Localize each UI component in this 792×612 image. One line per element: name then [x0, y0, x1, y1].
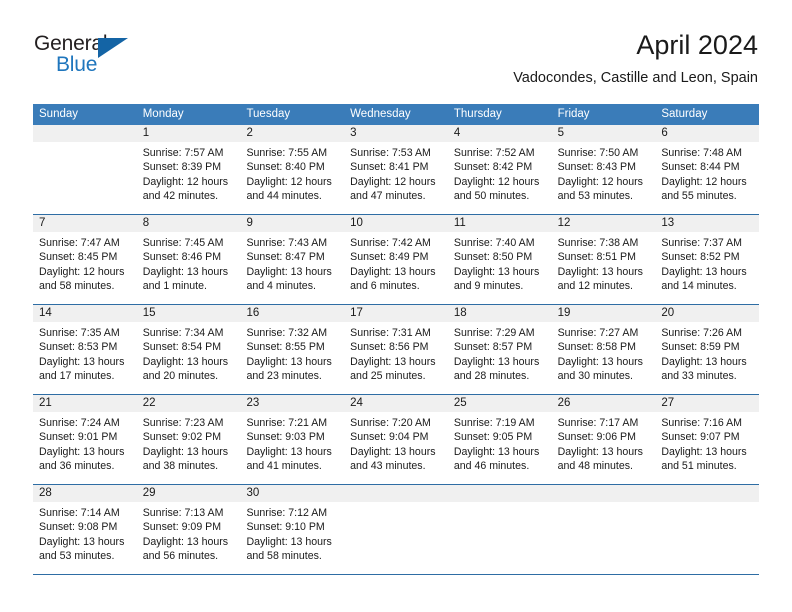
day-details: Sunrise: 7:35 AMSunset: 8:53 PMDaylight:… — [33, 322, 137, 384]
day-detail-line: Daylight: 13 hours — [454, 265, 546, 279]
day-detail-line: Sunrise: 7:23 AM — [143, 416, 235, 430]
day-detail-line: and 51 minutes. — [661, 459, 753, 473]
day-detail-line: and 17 minutes. — [39, 369, 131, 383]
day-detail-line: and 41 minutes. — [246, 459, 338, 473]
page-subtitle: Vadocondes, Castille and Leon, Spain — [513, 68, 758, 88]
day-detail-line: Sunset: 8:46 PM — [143, 250, 235, 264]
day-detail-line: and 28 minutes. — [454, 369, 546, 383]
day-detail-line: Sunset: 8:52 PM — [661, 250, 753, 264]
day-detail-line: Sunrise: 7:12 AM — [246, 506, 338, 520]
day-detail-line: Sunrise: 7:24 AM — [39, 416, 131, 430]
day-details: Sunrise: 7:21 AMSunset: 9:03 PMDaylight:… — [240, 412, 344, 474]
day-number: 29 — [137, 485, 241, 502]
day-cell-3[interactable]: 3Sunrise: 7:53 AMSunset: 8:41 PMDaylight… — [344, 125, 448, 214]
logo-triangle-icon — [98, 38, 128, 58]
day-detail-line: Sunset: 8:51 PM — [558, 250, 650, 264]
day-details: Sunrise: 7:32 AMSunset: 8:55 PMDaylight:… — [240, 322, 344, 384]
day-details: Sunrise: 7:27 AMSunset: 8:58 PMDaylight:… — [552, 322, 656, 384]
day-details: Sunrise: 7:55 AMSunset: 8:40 PMDaylight:… — [240, 142, 344, 204]
day-detail-line: Sunset: 8:53 PM — [39, 340, 131, 354]
day-details: Sunrise: 7:52 AMSunset: 8:42 PMDaylight:… — [448, 142, 552, 204]
day-detail-line: Daylight: 13 hours — [454, 445, 546, 459]
day-number: 24 — [344, 395, 448, 412]
day-detail-line: Sunset: 9:10 PM — [246, 520, 338, 534]
day-detail-line: Sunrise: 7:32 AM — [246, 326, 338, 340]
day-detail-line: and 46 minutes. — [454, 459, 546, 473]
day-number — [448, 485, 552, 502]
day-details: Sunrise: 7:53 AMSunset: 8:41 PMDaylight:… — [344, 142, 448, 204]
day-detail-line: and 33 minutes. — [661, 369, 753, 383]
day-details: Sunrise: 7:43 AMSunset: 8:47 PMDaylight:… — [240, 232, 344, 294]
day-detail-line: Sunset: 8:57 PM — [454, 340, 546, 354]
day-number: 8 — [137, 215, 241, 232]
page-header: General Blue April 2024 Vadocondes, Cast… — [34, 28, 758, 98]
day-cell-5[interactable]: 5Sunrise: 7:50 AMSunset: 8:43 PMDaylight… — [552, 125, 656, 214]
day-detail-line: and 43 minutes. — [350, 459, 442, 473]
calendar-page: General Blue April 2024 Vadocondes, Cast… — [0, 0, 792, 612]
day-number: 23 — [240, 395, 344, 412]
day-details: Sunrise: 7:31 AMSunset: 8:56 PMDaylight:… — [344, 322, 448, 384]
day-cell-19[interactable]: 19Sunrise: 7:27 AMSunset: 8:58 PMDayligh… — [552, 305, 656, 394]
day-cell-22[interactable]: 22Sunrise: 7:23 AMSunset: 9:02 PMDayligh… — [137, 395, 241, 484]
day-details: Sunrise: 7:14 AMSunset: 9:08 PMDaylight:… — [33, 502, 137, 564]
day-number: 28 — [33, 485, 137, 502]
day-detail-line: Sunrise: 7:52 AM — [454, 146, 546, 160]
day-number — [344, 485, 448, 502]
day-number: 3 — [344, 125, 448, 142]
day-detail-line: Sunrise: 7:31 AM — [350, 326, 442, 340]
day-cell-empty — [344, 485, 448, 574]
day-details: Sunrise: 7:17 AMSunset: 9:06 PMDaylight:… — [552, 412, 656, 474]
day-detail-line: and 9 minutes. — [454, 279, 546, 293]
day-cell-10[interactable]: 10Sunrise: 7:42 AMSunset: 8:49 PMDayligh… — [344, 215, 448, 304]
day-detail-line: Daylight: 13 hours — [350, 445, 442, 459]
day-detail-line: and 4 minutes. — [246, 279, 338, 293]
day-details: Sunrise: 7:12 AMSunset: 9:10 PMDaylight:… — [240, 502, 344, 564]
day-detail-line: Sunrise: 7:50 AM — [558, 146, 650, 160]
day-detail-line: Sunrise: 7:29 AM — [454, 326, 546, 340]
day-detail-line: and 14 minutes. — [661, 279, 753, 293]
calendar-week-row: 14Sunrise: 7:35 AMSunset: 8:53 PMDayligh… — [33, 305, 759, 395]
day-cell-empty — [448, 485, 552, 574]
day-cell-17[interactable]: 17Sunrise: 7:31 AMSunset: 8:56 PMDayligh… — [344, 305, 448, 394]
day-number: 5 — [552, 125, 656, 142]
day-cell-30[interactable]: 30Sunrise: 7:12 AMSunset: 9:10 PMDayligh… — [240, 485, 344, 574]
day-detail-line: Sunset: 9:09 PM — [143, 520, 235, 534]
day-detail-line: and 55 minutes. — [661, 189, 753, 203]
day-cell-8[interactable]: 8Sunrise: 7:45 AMSunset: 8:46 PMDaylight… — [137, 215, 241, 304]
day-detail-line: Sunset: 9:03 PM — [246, 430, 338, 444]
day-number: 10 — [344, 215, 448, 232]
day-detail-line: Sunset: 8:40 PM — [246, 160, 338, 174]
calendar-week-row: 7Sunrise: 7:47 AMSunset: 8:45 PMDaylight… — [33, 215, 759, 305]
weekday-header-saturday: Saturday — [655, 104, 759, 125]
day-details: Sunrise: 7:16 AMSunset: 9:07 PMDaylight:… — [655, 412, 759, 474]
day-cell-11[interactable]: 11Sunrise: 7:40 AMSunset: 8:50 PMDayligh… — [448, 215, 552, 304]
day-cell-26[interactable]: 26Sunrise: 7:17 AMSunset: 9:06 PMDayligh… — [552, 395, 656, 484]
day-number: 26 — [552, 395, 656, 412]
day-detail-line: Sunset: 8:44 PM — [661, 160, 753, 174]
day-details: Sunrise: 7:47 AMSunset: 8:45 PMDaylight:… — [33, 232, 137, 294]
day-number: 1 — [137, 125, 241, 142]
day-detail-line: and 50 minutes. — [454, 189, 546, 203]
day-number: 18 — [448, 305, 552, 322]
day-detail-line: Sunrise: 7:48 AM — [661, 146, 753, 160]
day-cell-2[interactable]: 2Sunrise: 7:55 AMSunset: 8:40 PMDaylight… — [240, 125, 344, 214]
day-number: 19 — [552, 305, 656, 322]
day-detail-line: and 1 minute. — [143, 279, 235, 293]
day-detail-line: and 20 minutes. — [143, 369, 235, 383]
day-detail-line: Daylight: 13 hours — [39, 535, 131, 549]
day-detail-line: Sunrise: 7:16 AM — [661, 416, 753, 430]
day-number: 30 — [240, 485, 344, 502]
day-detail-line: and 6 minutes. — [350, 279, 442, 293]
day-detail-line: and 30 minutes. — [558, 369, 650, 383]
day-cell-14[interactable]: 14Sunrise: 7:35 AMSunset: 8:53 PMDayligh… — [33, 305, 137, 394]
day-cell-16[interactable]: 16Sunrise: 7:32 AMSunset: 8:55 PMDayligh… — [240, 305, 344, 394]
day-detail-line: Sunrise: 7:13 AM — [143, 506, 235, 520]
day-cell-15[interactable]: 15Sunrise: 7:34 AMSunset: 8:54 PMDayligh… — [137, 305, 241, 394]
day-cell-13[interactable]: 13Sunrise: 7:37 AMSunset: 8:52 PMDayligh… — [655, 215, 759, 304]
day-number: 12 — [552, 215, 656, 232]
day-detail-line: Daylight: 12 hours — [558, 175, 650, 189]
day-detail-line: Daylight: 13 hours — [454, 355, 546, 369]
day-number: 27 — [655, 395, 759, 412]
day-detail-line: Sunset: 8:56 PM — [350, 340, 442, 354]
day-number: 9 — [240, 215, 344, 232]
day-detail-line: Sunset: 8:54 PM — [143, 340, 235, 354]
day-detail-line: Sunset: 8:41 PM — [350, 160, 442, 174]
day-detail-line: Sunset: 8:50 PM — [454, 250, 546, 264]
day-detail-line: Sunrise: 7:47 AM — [39, 236, 131, 250]
day-details: Sunrise: 7:13 AMSunset: 9:09 PMDaylight:… — [137, 502, 241, 564]
calendar-body: 1Sunrise: 7:57 AMSunset: 8:39 PMDaylight… — [33, 125, 759, 575]
day-detail-line: Sunset: 8:43 PM — [558, 160, 650, 174]
day-detail-line: Sunset: 8:59 PM — [661, 340, 753, 354]
day-detail-line: Daylight: 13 hours — [350, 265, 442, 279]
day-cell-1[interactable]: 1Sunrise: 7:57 AMSunset: 8:39 PMDaylight… — [137, 125, 241, 214]
day-detail-line: Daylight: 13 hours — [143, 265, 235, 279]
day-detail-line: Sunrise: 7:26 AM — [661, 326, 753, 340]
day-number: 22 — [137, 395, 241, 412]
day-detail-line: Sunrise: 7:57 AM — [143, 146, 235, 160]
day-detail-line: Sunset: 9:02 PM — [143, 430, 235, 444]
day-detail-line: Daylight: 13 hours — [143, 535, 235, 549]
day-details: Sunrise: 7:42 AMSunset: 8:49 PMDaylight:… — [344, 232, 448, 294]
day-detail-line: Daylight: 13 hours — [558, 265, 650, 279]
day-detail-line: Daylight: 12 hours — [661, 175, 753, 189]
day-number: 14 — [33, 305, 137, 322]
day-number: 6 — [655, 125, 759, 142]
calendar-week-row: 1Sunrise: 7:57 AMSunset: 8:39 PMDaylight… — [33, 125, 759, 215]
day-cell-24[interactable]: 24Sunrise: 7:20 AMSunset: 9:04 PMDayligh… — [344, 395, 448, 484]
day-cell-27[interactable]: 27Sunrise: 7:16 AMSunset: 9:07 PMDayligh… — [655, 395, 759, 484]
day-detail-line: Sunrise: 7:43 AM — [246, 236, 338, 250]
day-cell-empty — [655, 485, 759, 574]
day-number: 17 — [344, 305, 448, 322]
day-detail-line: Daylight: 13 hours — [558, 355, 650, 369]
day-detail-line: Sunrise: 7:20 AM — [350, 416, 442, 430]
day-detail-line: Sunset: 9:05 PM — [454, 430, 546, 444]
day-detail-line: and 58 minutes. — [246, 549, 338, 563]
day-cell-21[interactable]: 21Sunrise: 7:24 AMSunset: 9:01 PMDayligh… — [33, 395, 137, 484]
day-detail-line: Sunrise: 7:19 AM — [454, 416, 546, 430]
day-detail-line: and 58 minutes. — [39, 279, 131, 293]
day-details: Sunrise: 7:20 AMSunset: 9:04 PMDaylight:… — [344, 412, 448, 474]
day-details: Sunrise: 7:50 AMSunset: 8:43 PMDaylight:… — [552, 142, 656, 204]
day-detail-line: and 44 minutes. — [246, 189, 338, 203]
day-number: 11 — [448, 215, 552, 232]
day-detail-line: Daylight: 13 hours — [246, 445, 338, 459]
day-detail-line: Daylight: 12 hours — [350, 175, 442, 189]
logo-text-blue: Blue — [56, 53, 97, 77]
day-detail-line: Sunset: 8:45 PM — [39, 250, 131, 264]
day-detail-line: and 56 minutes. — [143, 549, 235, 563]
day-detail-line: Sunrise: 7:34 AM — [143, 326, 235, 340]
day-detail-line: and 53 minutes. — [39, 549, 131, 563]
day-details: Sunrise: 7:48 AMSunset: 8:44 PMDaylight:… — [655, 142, 759, 204]
day-detail-line: Sunrise: 7:40 AM — [454, 236, 546, 250]
day-cell-20[interactable]: 20Sunrise: 7:26 AMSunset: 8:59 PMDayligh… — [655, 305, 759, 394]
day-cell-7[interactable]: 7Sunrise: 7:47 AMSunset: 8:45 PMDaylight… — [33, 215, 137, 304]
day-detail-line: Sunset: 9:08 PM — [39, 520, 131, 534]
day-number: 7 — [33, 215, 137, 232]
day-details: Sunrise: 7:45 AMSunset: 8:46 PMDaylight:… — [137, 232, 241, 294]
day-cell-28[interactable]: 28Sunrise: 7:14 AMSunset: 9:08 PMDayligh… — [33, 485, 137, 574]
day-detail-line: and 12 minutes. — [558, 279, 650, 293]
day-detail-line: Daylight: 12 hours — [143, 175, 235, 189]
day-cell-29[interactable]: 29Sunrise: 7:13 AMSunset: 9:09 PMDayligh… — [137, 485, 241, 574]
day-details: Sunrise: 7:19 AMSunset: 9:05 PMDaylight:… — [448, 412, 552, 474]
day-detail-line: Daylight: 13 hours — [143, 355, 235, 369]
day-number: 2 — [240, 125, 344, 142]
day-cell-23[interactable]: 23Sunrise: 7:21 AMSunset: 9:03 PMDayligh… — [240, 395, 344, 484]
day-detail-line: Sunrise: 7:45 AM — [143, 236, 235, 250]
general-blue-logo[interactable]: General Blue — [34, 32, 214, 84]
day-number: 21 — [33, 395, 137, 412]
day-cell-18[interactable]: 18Sunrise: 7:29 AMSunset: 8:57 PMDayligh… — [448, 305, 552, 394]
day-cell-9[interactable]: 9Sunrise: 7:43 AMSunset: 8:47 PMDaylight… — [240, 215, 344, 304]
title-block: April 2024 Vadocondes, Castille and Leon… — [513, 28, 758, 88]
day-number: 25 — [448, 395, 552, 412]
day-cell-12[interactable]: 12Sunrise: 7:38 AMSunset: 8:51 PMDayligh… — [552, 215, 656, 304]
day-number: 15 — [137, 305, 241, 322]
day-details: Sunrise: 7:57 AMSunset: 8:39 PMDaylight:… — [137, 142, 241, 204]
page-title: April 2024 — [513, 28, 758, 62]
day-number: 13 — [655, 215, 759, 232]
weekday-header-thursday: Thursday — [448, 104, 552, 125]
day-detail-line: and 53 minutes. — [558, 189, 650, 203]
day-detail-line: Daylight: 13 hours — [143, 445, 235, 459]
day-detail-line: Sunset: 8:39 PM — [143, 160, 235, 174]
weekday-header-wednesday: Wednesday — [344, 104, 448, 125]
day-details: Sunrise: 7:38 AMSunset: 8:51 PMDaylight:… — [552, 232, 656, 294]
day-detail-line: Sunrise: 7:17 AM — [558, 416, 650, 430]
day-number: 16 — [240, 305, 344, 322]
day-cell-empty — [33, 125, 137, 214]
day-details: Sunrise: 7:26 AMSunset: 8:59 PMDaylight:… — [655, 322, 759, 384]
day-detail-line: Daylight: 13 hours — [661, 445, 753, 459]
day-details: Sunrise: 7:29 AMSunset: 8:57 PMDaylight:… — [448, 322, 552, 384]
day-number: 4 — [448, 125, 552, 142]
day-details: Sunrise: 7:34 AMSunset: 8:54 PMDaylight:… — [137, 322, 241, 384]
day-number: 20 — [655, 305, 759, 322]
day-cell-6[interactable]: 6Sunrise: 7:48 AMSunset: 8:44 PMDaylight… — [655, 125, 759, 214]
day-number — [552, 485, 656, 502]
day-detail-line: Daylight: 13 hours — [246, 535, 338, 549]
weekday-header-row: SundayMondayTuesdayWednesdayThursdayFrid… — [33, 104, 759, 125]
day-detail-line: Daylight: 13 hours — [39, 355, 131, 369]
day-detail-line: and 23 minutes. — [246, 369, 338, 383]
day-detail-line: Sunset: 8:58 PM — [558, 340, 650, 354]
month-calendar: SundayMondayTuesdayWednesdayThursdayFrid… — [33, 104, 759, 575]
day-number — [33, 125, 137, 142]
day-detail-line: Daylight: 12 hours — [246, 175, 338, 189]
weekday-header-monday: Monday — [137, 104, 241, 125]
day-detail-line: and 25 minutes. — [350, 369, 442, 383]
day-detail-line: Daylight: 13 hours — [39, 445, 131, 459]
day-detail-line: Sunrise: 7:55 AM — [246, 146, 338, 160]
day-detail-line: Daylight: 13 hours — [350, 355, 442, 369]
day-detail-line: Daylight: 12 hours — [454, 175, 546, 189]
day-detail-line: Sunrise: 7:38 AM — [558, 236, 650, 250]
day-detail-line: Daylight: 13 hours — [661, 355, 753, 369]
day-detail-line: and 48 minutes. — [558, 459, 650, 473]
weekday-header-tuesday: Tuesday — [240, 104, 344, 125]
day-detail-line: and 38 minutes. — [143, 459, 235, 473]
day-details: Sunrise: 7:24 AMSunset: 9:01 PMDaylight:… — [33, 412, 137, 474]
day-detail-line: Daylight: 13 hours — [661, 265, 753, 279]
day-detail-line: Sunset: 9:07 PM — [661, 430, 753, 444]
day-detail-line: Daylight: 12 hours — [39, 265, 131, 279]
day-detail-line: Daylight: 13 hours — [558, 445, 650, 459]
day-details: Sunrise: 7:23 AMSunset: 9:02 PMDaylight:… — [137, 412, 241, 474]
day-detail-line: Sunset: 8:42 PM — [454, 160, 546, 174]
day-detail-line: Sunset: 8:47 PM — [246, 250, 338, 264]
weekday-header-sunday: Sunday — [33, 104, 137, 125]
day-detail-line: Daylight: 13 hours — [246, 355, 338, 369]
day-detail-line: Sunset: 9:01 PM — [39, 430, 131, 444]
day-details: Sunrise: 7:37 AMSunset: 8:52 PMDaylight:… — [655, 232, 759, 294]
day-detail-line: Sunrise: 7:35 AM — [39, 326, 131, 340]
day-detail-line: Sunrise: 7:27 AM — [558, 326, 650, 340]
day-number — [655, 485, 759, 502]
weekday-header-friday: Friday — [552, 104, 656, 125]
day-cell-empty — [552, 485, 656, 574]
day-detail-line: Sunset: 8:49 PM — [350, 250, 442, 264]
day-detail-line: Sunset: 9:04 PM — [350, 430, 442, 444]
calendar-week-row: 28Sunrise: 7:14 AMSunset: 9:08 PMDayligh… — [33, 485, 759, 575]
day-detail-line: Sunrise: 7:42 AM — [350, 236, 442, 250]
day-detail-line: Daylight: 13 hours — [246, 265, 338, 279]
day-cell-4[interactable]: 4Sunrise: 7:52 AMSunset: 8:42 PMDaylight… — [448, 125, 552, 214]
day-details: Sunrise: 7:40 AMSunset: 8:50 PMDaylight:… — [448, 232, 552, 294]
day-cell-25[interactable]: 25Sunrise: 7:19 AMSunset: 9:05 PMDayligh… — [448, 395, 552, 484]
day-detail-line: Sunrise: 7:14 AM — [39, 506, 131, 520]
calendar-week-row: 21Sunrise: 7:24 AMSunset: 9:01 PMDayligh… — [33, 395, 759, 485]
day-detail-line: and 47 minutes. — [350, 189, 442, 203]
day-detail-line: Sunrise: 7:37 AM — [661, 236, 753, 250]
day-detail-line: Sunrise: 7:53 AM — [350, 146, 442, 160]
day-detail-line: Sunset: 9:06 PM — [558, 430, 650, 444]
day-detail-line: and 36 minutes. — [39, 459, 131, 473]
day-detail-line: Sunset: 8:55 PM — [246, 340, 338, 354]
day-detail-line: Sunrise: 7:21 AM — [246, 416, 338, 430]
day-detail-line: and 42 minutes. — [143, 189, 235, 203]
